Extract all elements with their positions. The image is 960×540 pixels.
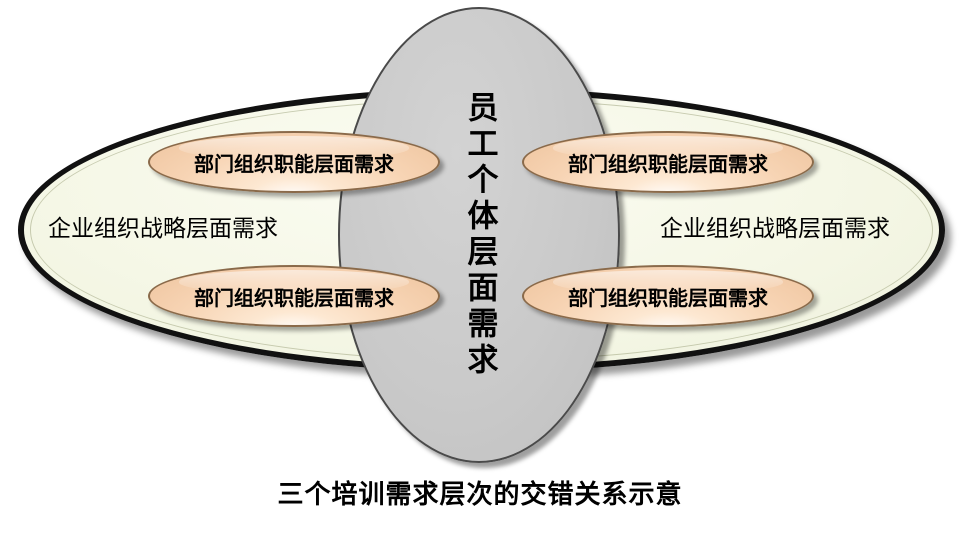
center-ellipse-employee-individual: 员工个体层面需求 [338, 7, 620, 463]
center-label-wrapper: 员工个体层面需求 [340, 9, 618, 461]
label-department-function-top-left: 部门组织职能层面需求 [194, 148, 394, 177]
label-department-function-bottom-left: 部门组织职能层面需求 [194, 282, 394, 311]
label-department-function-bottom-right: 部门组织职能层面需求 [568, 282, 768, 311]
diagram-canvas: 企业组织战略层面需求 企业组织战略层面需求 员工个体层面需求 部门组织职能层面需… [0, 0, 960, 540]
label-department-function-top-right: 部门组织职能层面需求 [568, 148, 768, 177]
label-enterprise-strategy-left: 企业组织战略层面需求 [48, 218, 278, 241]
ellipse-department-function-top-right: 部门组织职能层面需求 [522, 131, 814, 193]
ellipse-department-function-bottom-right: 部门组织职能层面需求 [522, 265, 814, 327]
diagram-caption: 三个培训需求层次的交错关系示意 [0, 474, 960, 511]
ellipse-department-function-bottom-left: 部门组织职能层面需求 [148, 265, 440, 327]
ellipse-department-function-top-left: 部门组织职能层面需求 [148, 131, 440, 193]
label-employee-individual: 员工个体层面需求 [464, 91, 495, 379]
label-enterprise-strategy-right: 企业组织战略层面需求 [660, 218, 890, 241]
